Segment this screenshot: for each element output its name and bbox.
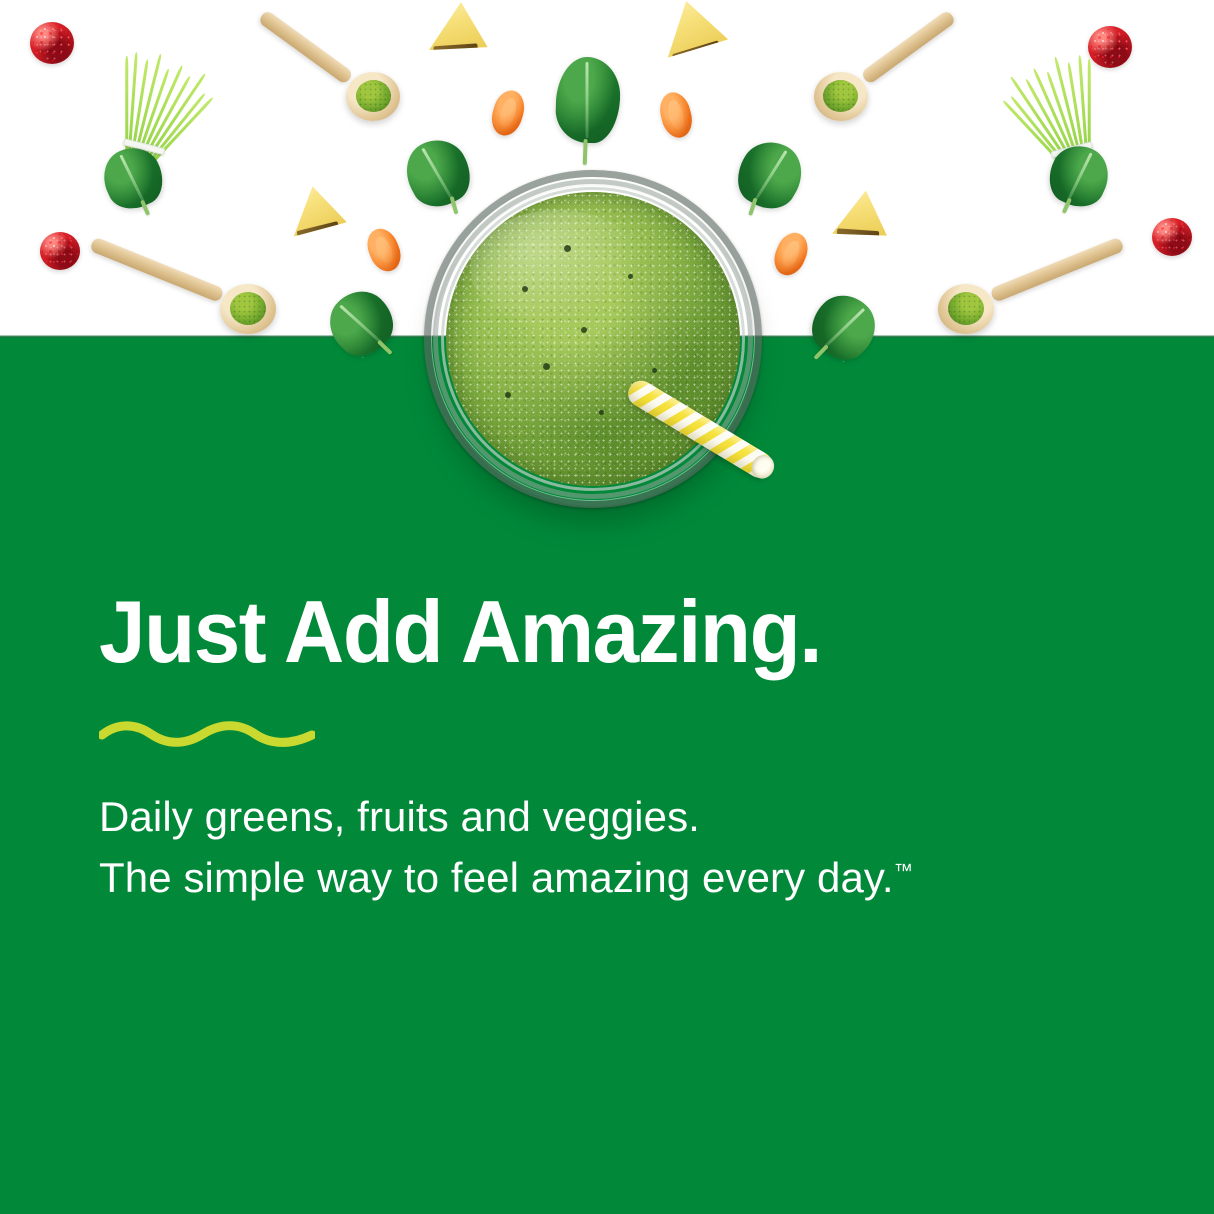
smoothie-jar bbox=[424, 170, 762, 508]
page-title: Just Add Amazing. bbox=[99, 588, 1068, 676]
marketing-hero-image: Just Add Amazing. Daily greens, fruits a… bbox=[0, 0, 1214, 1214]
copy-block: Just Add Amazing. Daily greens, fruits a… bbox=[99, 588, 1119, 909]
wooden-spoon-icon bbox=[812, 6, 952, 124]
trademark-symbol: ™ bbox=[894, 861, 913, 882]
wooden-spoon-icon bbox=[922, 228, 1122, 328]
subheadline: Daily greens, fruits and veggies. The si… bbox=[99, 787, 1119, 909]
wooden-spoon-icon bbox=[262, 6, 402, 124]
raspberry-icon bbox=[40, 232, 80, 270]
wavy-underline-icon bbox=[99, 721, 315, 747]
raspberry-icon bbox=[30, 22, 74, 64]
wooden-spoon-icon bbox=[92, 228, 292, 328]
subheadline-line-2-text: The simple way to feel amazing every day… bbox=[99, 854, 894, 901]
raspberry-icon bbox=[1152, 218, 1192, 256]
subheadline-line-2: The simple way to feel amazing every day… bbox=[99, 848, 1119, 909]
subheadline-line-1: Daily greens, fruits and veggies. bbox=[99, 787, 1119, 848]
jar-outer-rim bbox=[424, 170, 762, 508]
